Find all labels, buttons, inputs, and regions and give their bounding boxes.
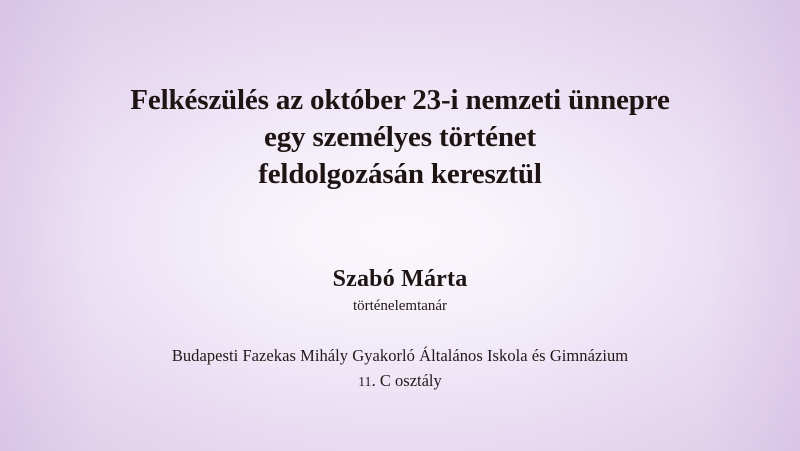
school-name: Budapesti Fazekas Mihály Gyakorló Általá… (0, 344, 800, 367)
author-block: Szabó Márta történelemtanár (0, 264, 800, 317)
school-block: Budapesti Fazekas Mihály Gyakorló Általá… (0, 344, 800, 393)
title-line-3: feldolgozásán keresztül (0, 156, 800, 193)
title-line-1: Felkészülés az október 23-i nemzeti ünne… (0, 82, 800, 119)
author-role: történelemtanár (0, 296, 800, 317)
school-class-number: 11 (358, 374, 371, 389)
presentation-title-slide: Felkészülés az október 23-i nemzeti ünne… (0, 0, 800, 451)
school-class-suffix: . C osztály (372, 371, 442, 390)
slide-title: Felkészülés az október 23-i nemzeti ünne… (0, 82, 800, 193)
title-line-2: egy személyes történet (0, 119, 800, 156)
author-name: Szabó Márta (0, 264, 800, 294)
slide-content: Felkészülés az október 23-i nemzeti ünne… (0, 0, 800, 451)
school-class: 11. C osztály (0, 369, 800, 393)
